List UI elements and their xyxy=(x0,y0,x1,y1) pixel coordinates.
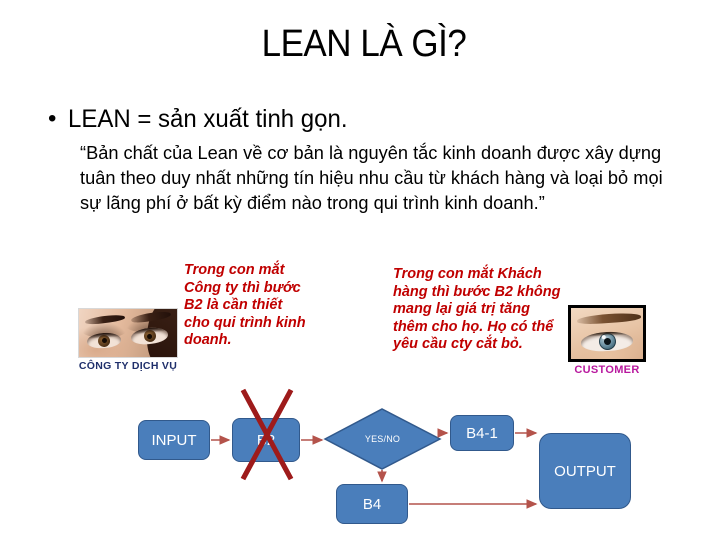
flow-node-b2[interactable]: B2 xyxy=(232,418,300,462)
flow-node-input-label: INPUT xyxy=(152,432,197,449)
annotation-company: Trong con mắt Công ty thì bước B2 là cần… xyxy=(184,262,306,350)
company-photo-block: CÔNG TY DỊCH VỤ xyxy=(78,308,178,372)
flow-node-b4-1[interactable]: B4-1 xyxy=(450,415,514,451)
flow-node-decision-label: YES/NO xyxy=(325,434,440,444)
flow-node-b2-label: B2 xyxy=(257,432,275,449)
flow-node-decision[interactable]: YES/NO xyxy=(325,408,440,470)
flow-node-output-label: OUTPUT xyxy=(554,463,616,480)
annotation-customer: Trong con mắt Khách hàng thì bước B2 khô… xyxy=(393,266,561,354)
customer-photo-block: CUSTOMER xyxy=(568,305,646,376)
bullet-item: • LEAN = sản xuất tinh gọn. xyxy=(48,104,688,135)
page-title: LEAN LÀ GÌ? xyxy=(29,22,699,66)
body-text-block: • LEAN = sản xuất tinh gọn. “Bản chất củ… xyxy=(48,104,688,215)
flow-node-output[interactable]: OUTPUT xyxy=(539,433,631,509)
company-eyes-photo xyxy=(78,308,178,358)
slide-canvas: LEAN LÀ GÌ? • LEAN = sản xuất tinh gọn. … xyxy=(0,0,728,546)
bullet-label: LEAN = sản xuất tinh gọn. xyxy=(68,104,348,135)
company-photo-caption: CÔNG TY DỊCH VỤ xyxy=(78,358,178,372)
flow-node-b4-1-label: B4-1 xyxy=(466,425,498,442)
flow-node-b4[interactable]: B4 xyxy=(336,484,408,524)
customer-eye-photo xyxy=(568,305,646,362)
quote-paragraph: “Bản chất của Lean về cơ bản là nguyên t… xyxy=(80,140,667,215)
customer-photo-caption: CUSTOMER xyxy=(568,362,646,376)
bullet-marker: • xyxy=(48,104,56,134)
flow-node-input[interactable]: INPUT xyxy=(138,420,210,460)
flow-node-b4-label: B4 xyxy=(363,496,381,513)
